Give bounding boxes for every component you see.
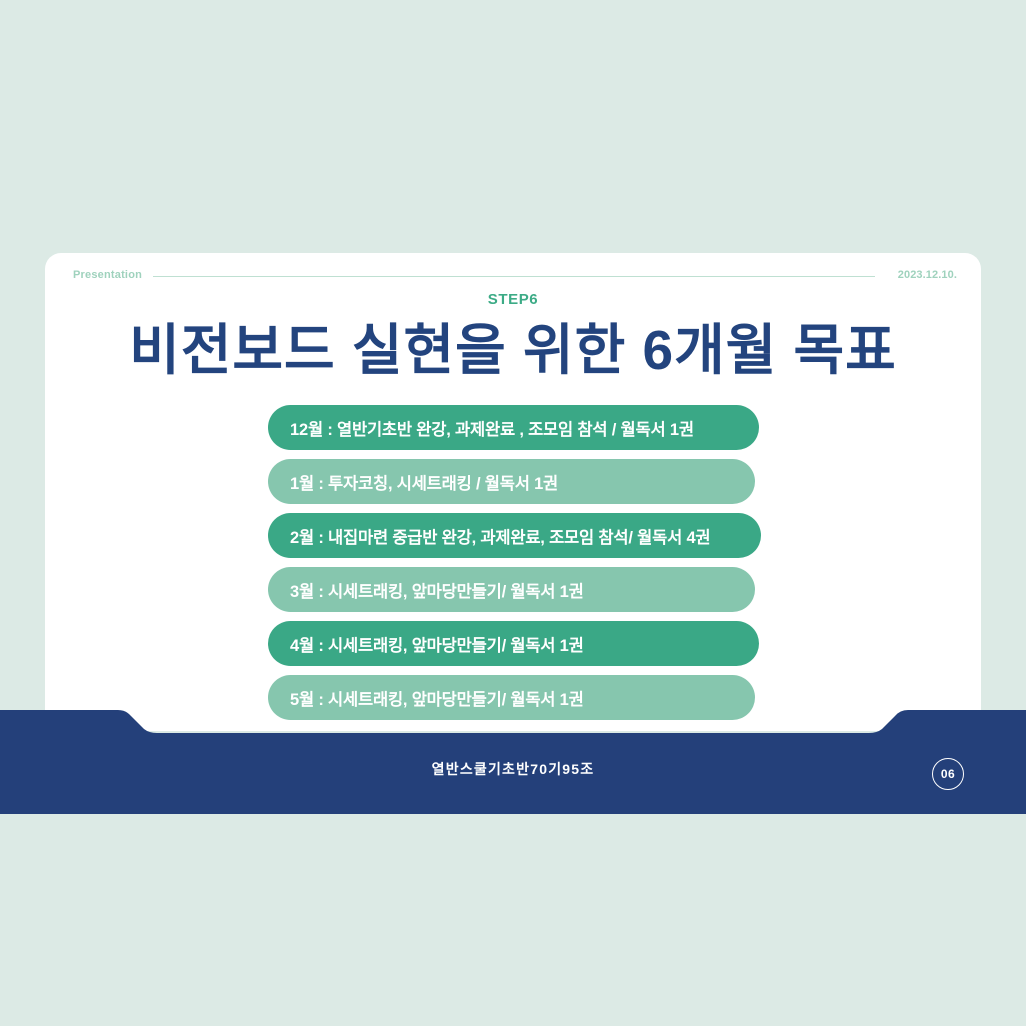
slide-root: Presentation 2023.12.10. STEP6 비전보드 실현을 …	[0, 0, 1026, 1026]
goal-row: 12월 : 열반기초반 완강, 과제완료 , 조모임 참석 / 월독서 1권	[45, 405, 981, 458]
goal-label: 12월 : 열반기초반 완강, 과제완료 , 조모임 참석 / 월독서 1권	[290, 416, 694, 440]
goal-list: 12월 : 열반기초반 완강, 과제완료 , 조모임 참석 / 월독서 1권 1…	[45, 405, 981, 729]
page-title: 비전보드 실현을 위한 6개월 목표	[45, 319, 981, 382]
goal-pill-1wol[interactable]: 1월 : 투자코칭, 시세트래킹 / 월독서 1권	[268, 459, 755, 504]
goal-label: 1월 : 투자코칭, 시세트래킹 / 월독서 1권	[290, 470, 558, 494]
goal-pill-3wol[interactable]: 3월 : 시세트래킹, 앞마당만들기/ 월독서 1권	[268, 567, 755, 612]
goal-row: 1월 : 투자코칭, 시세트래킹 / 월독서 1권	[45, 459, 981, 512]
footer-title: 열반스쿨기초반70기95조	[0, 759, 1026, 779]
goal-pill-4wol[interactable]: 4월 : 시세트래킹, 앞마당만들기/ 월독서 1권	[268, 621, 759, 666]
footer-content: 열반스쿨기초반70기95조 06	[0, 731, 1026, 814]
step-eyebrow: STEP6	[45, 291, 981, 308]
goal-pill-12wol[interactable]: 12월 : 열반기초반 완강, 과제완료 , 조모임 참석 / 월독서 1권	[268, 405, 759, 450]
goal-pill-2wol[interactable]: 2월 : 내집마련 중급반 완강, 과제완료, 조모임 참석/ 월독서 4권	[268, 513, 761, 558]
slide-footer: 열반스쿨기초반70기95조 06	[0, 708, 1026, 814]
page-number: 06	[941, 767, 955, 781]
goal-row: 3월 : 시세트래킹, 앞마당만들기/ 월독서 1권	[45, 567, 981, 620]
goal-row: 4월 : 시세트래킹, 앞마당만들기/ 월독서 1권	[45, 621, 981, 674]
presentation-label: Presentation	[73, 269, 142, 281]
presentation-date: 2023.12.10.	[898, 269, 957, 281]
goal-label: 2월 : 내집마련 중급반 완강, 과제완료, 조모임 참석/ 월독서 4권	[290, 524, 710, 548]
header-divider	[153, 276, 875, 277]
goal-label: 3월 : 시세트래킹, 앞마당만들기/ 월독서 1권	[290, 578, 584, 602]
goal-label: 5월 : 시세트래킹, 앞마당만들기/ 월독서 1권	[290, 686, 584, 710]
slide-card: Presentation 2023.12.10. STEP6 비전보드 실현을 …	[45, 253, 981, 731]
goal-label: 4월 : 시세트래킹, 앞마당만들기/ 월독서 1권	[290, 632, 584, 656]
page-number-badge: 06	[932, 758, 964, 790]
goal-row: 2월 : 내집마련 중급반 완강, 과제완료, 조모임 참석/ 월독서 4권	[45, 513, 981, 566]
